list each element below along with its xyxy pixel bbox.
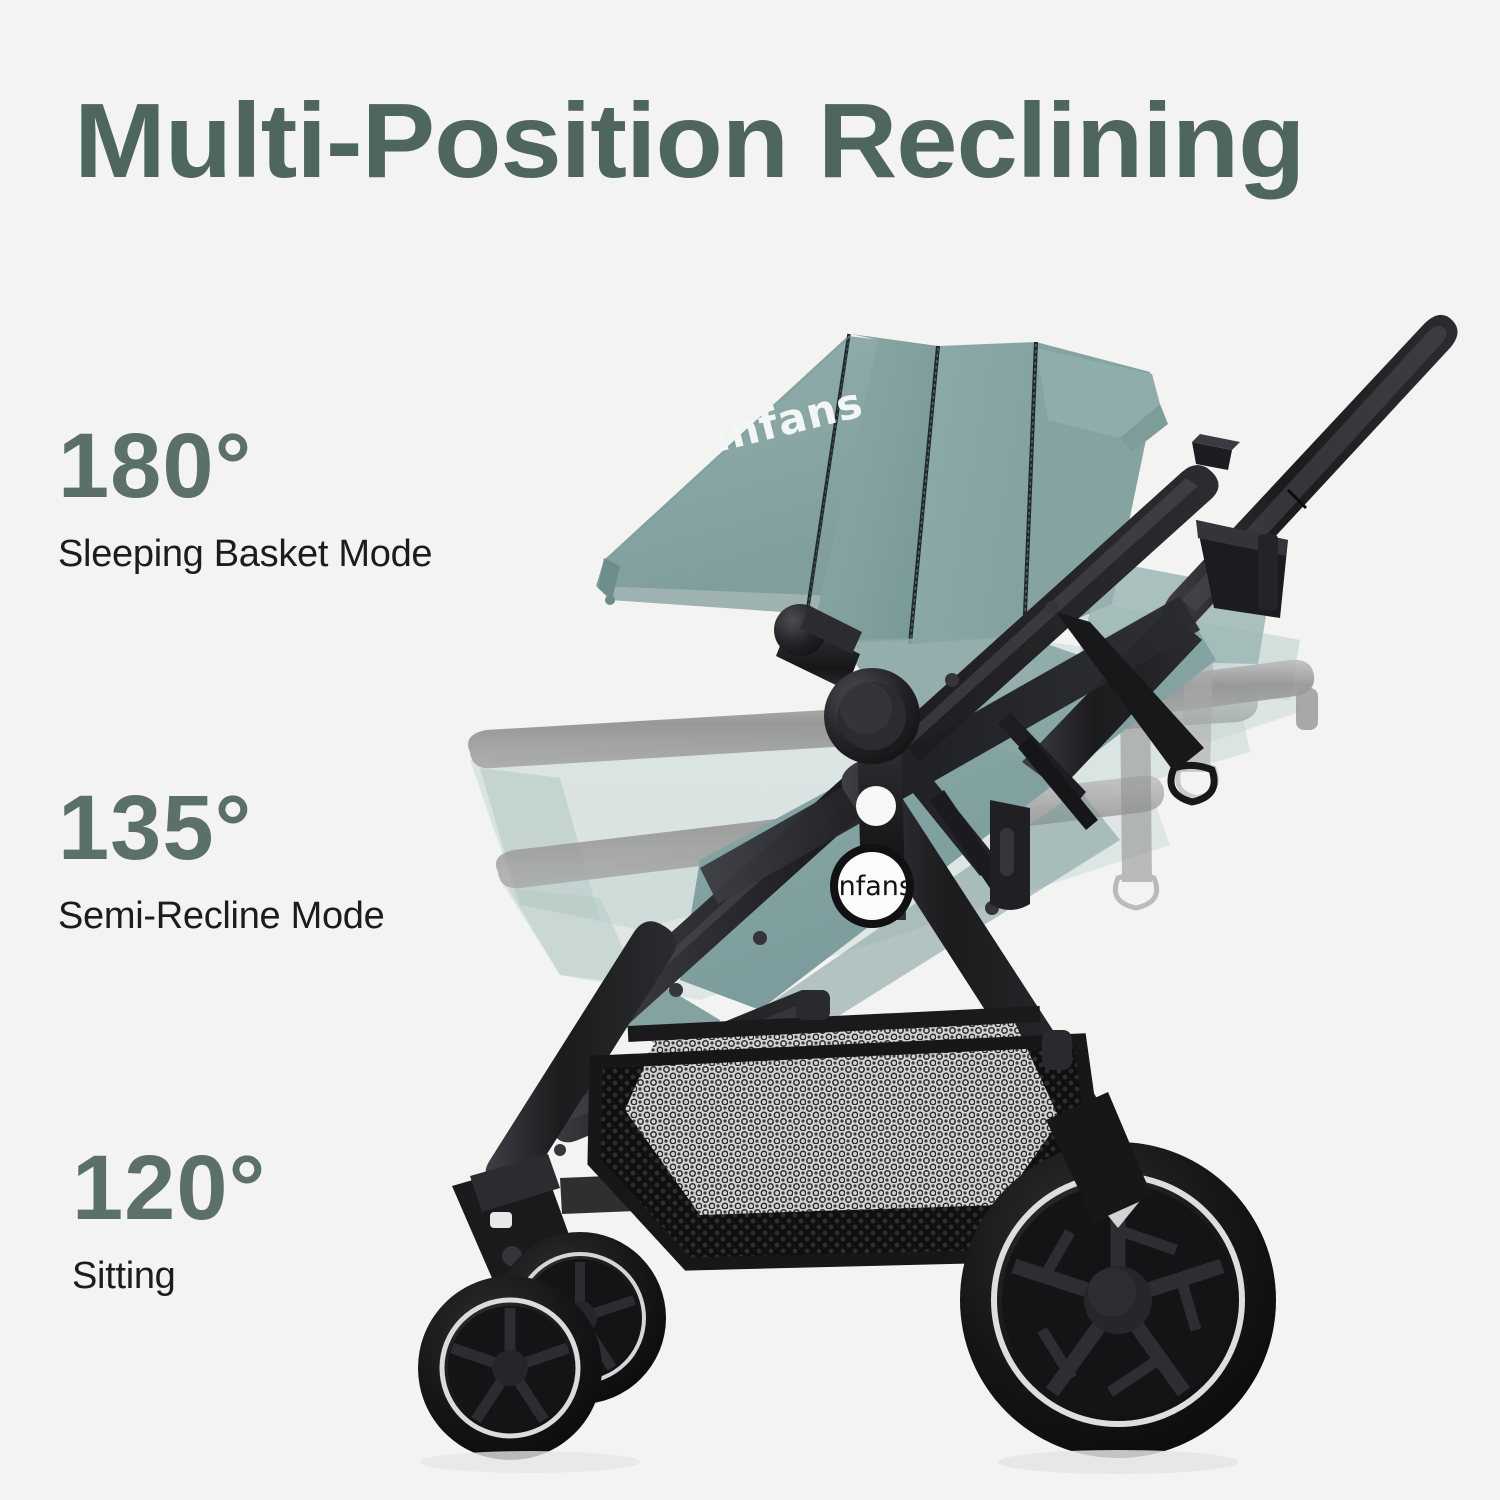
rear-wheel	[960, 1142, 1276, 1458]
120-degree-ghost	[496, 776, 1170, 1000]
recline-pivot-hub	[824, 668, 920, 764]
canopy-mount-joint	[774, 604, 826, 656]
rear-spokes-secondary	[1042, 1230, 1196, 1392]
canopy-seam-2	[910, 346, 938, 644]
harness-strap	[1056, 612, 1214, 802]
hub-logo-badge-ring	[830, 844, 914, 928]
page-title: Multi-Position Reclining	[74, 88, 1500, 194]
latch-parts	[990, 712, 1098, 910]
frame	[486, 465, 1219, 1214]
rear-rim	[1002, 1184, 1234, 1416]
lower-cross-tube	[560, 1160, 1006, 1214]
rear-hub-cap	[1084, 1266, 1152, 1334]
seat-back-panel	[680, 600, 1216, 1010]
rear-spokes	[1014, 1190, 1222, 1392]
feature-value-120: 120°	[72, 1142, 472, 1234]
feature-block-180: 180° Sleeping Basket Mode	[58, 420, 458, 580]
frame-diagonal-main	[585, 465, 1218, 1039]
canopy-rear-flap	[1036, 348, 1160, 438]
canopy-seam-1	[806, 334, 849, 620]
seat-fabric	[598, 600, 1216, 1070]
front-spokes	[452, 1308, 568, 1420]
front-tire-rear	[494, 1232, 666, 1404]
canopy: infans	[596, 334, 1270, 664]
footrest-panel	[598, 960, 720, 1070]
canopy-extension	[1080, 560, 1270, 664]
feature-block-135: 135° Semi-Recline Mode	[58, 782, 458, 942]
seat-frame-tube	[700, 596, 1200, 904]
rear-leg	[842, 759, 1111, 1147]
canopy-seam-3	[1024, 342, 1036, 638]
frame-rivets	[554, 595, 1075, 1156]
feature-label-135: Semi-Recline Mode	[58, 890, 458, 942]
recline-hub: infans	[824, 668, 920, 928]
canopy-mount-tube	[776, 620, 860, 690]
canopy-brand-logo: infans	[709, 377, 868, 461]
basket-mesh-dark	[594, 1040, 1096, 1264]
mid-strut	[862, 714, 998, 876]
135-degree-ghost	[468, 686, 1258, 930]
handlebar-tube	[1163, 315, 1458, 631]
basket-mesh-light	[590, 1000, 1090, 1280]
front-wheel-shadow	[420, 1451, 640, 1473]
canopy-panel-1	[596, 336, 880, 596]
rear-rim-ring	[994, 1176, 1242, 1424]
storage-basket	[590, 990, 1096, 1280]
basket-top-rail	[628, 1014, 1040, 1034]
bumper-bar	[543, 990, 824, 1142]
canopy-panel-2	[810, 334, 938, 644]
feature-value-135: 135°	[58, 782, 458, 874]
cup-holder	[1192, 434, 1288, 618]
release-button	[856, 786, 896, 826]
feature-label-180: Sleeping Basket Mode	[58, 528, 458, 580]
handlebar	[1022, 315, 1458, 790]
canopy-panel-3	[912, 342, 1036, 644]
handlebar-stem	[1022, 610, 1202, 790]
canopy-panel-4	[1026, 342, 1150, 640]
hub-brand-logo: infans	[831, 871, 913, 902]
harness-d-ring	[1171, 765, 1214, 802]
rear-wheel-shadow	[998, 1450, 1238, 1474]
rear-axle-highlight	[1092, 1190, 1144, 1228]
ghost-canopy-rear	[1080, 600, 1300, 700]
product-feature-image: infans	[0, 0, 1500, 1500]
feature-value-180: 180°	[58, 420, 458, 512]
feature-block-120: 120° Sitting	[72, 1142, 472, 1302]
cup-holder-clip	[1192, 442, 1232, 470]
rear-fork	[1046, 1092, 1152, 1222]
ghost-recline-positions	[468, 600, 1318, 1000]
front-fork-marker	[490, 1212, 512, 1228]
ghost-harness-straps	[1115, 660, 1216, 908]
ghost-bumper-bar	[1118, 660, 1314, 716]
front-tire-front	[418, 1276, 602, 1460]
basket-strap-clip	[796, 990, 830, 1020]
feature-label-120: Sitting	[72, 1250, 472, 1302]
rear-tire	[960, 1142, 1276, 1458]
front-leg	[486, 921, 677, 1195]
seat-latch	[990, 800, 1030, 910]
recline-link-plate	[856, 700, 906, 920]
basket-rim	[594, 1040, 1096, 1264]
